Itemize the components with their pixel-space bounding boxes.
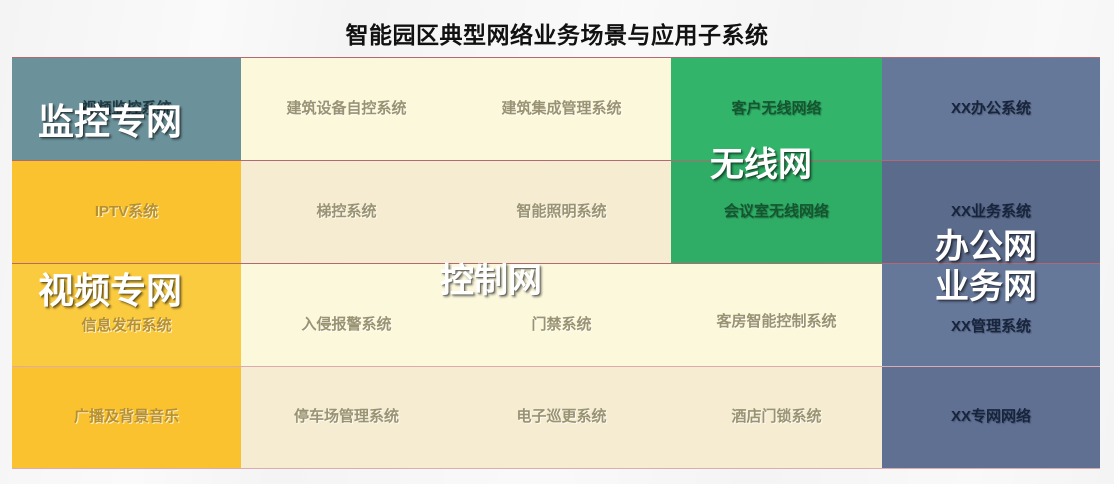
zone-label-office-network: 办公网 [935, 230, 1037, 266]
cell-guestroom-intelligent-control-system[interactable]: 客房智能控制系统 [671, 264, 882, 366]
cell-label: 建筑集成管理系统 [501, 100, 621, 119]
cell-label: 电子巡更系统 [516, 408, 606, 427]
cell-xx-private-network[interactable]: XX专网网络 [882, 367, 1100, 468]
cell-label: 梯控系统 [316, 203, 376, 222]
cell-iptv-system[interactable]: IPTV系统 [12, 161, 241, 263]
cell-guest-wireless-network[interactable]: 客户无线网络 [671, 58, 882, 160]
cell-label: XX管理系统 [951, 318, 1031, 337]
zone-label-wireless-network: 无线网 [710, 148, 812, 184]
cell-label: 信息发布系统 [81, 317, 171, 336]
cell-label: 客户无线网络 [731, 100, 821, 119]
zone-label-control-network: 控制网 [440, 264, 542, 300]
cell-label: 门禁系统 [531, 316, 591, 335]
cell-intrusion-alarm-system[interactable]: 入侵报警系统 [241, 264, 452, 366]
cell-label: XX业务系统 [951, 203, 1031, 222]
cell-label: 广播及背景音乐 [74, 408, 179, 427]
cell-xx-office-system[interactable]: XX办公系统 [882, 58, 1100, 160]
matrix-bottom-rule [12, 468, 1100, 469]
page-title: 智能园区典型网络业务场景与应用子系统 [0, 16, 1114, 50]
cell-label: 停车场管理系统 [294, 408, 399, 427]
cell-label: XX专网网络 [951, 408, 1031, 427]
cell-label: IPTV系统 [95, 203, 158, 222]
cell-label: 客房智能控制系统 [716, 313, 836, 332]
cell-intelligent-lighting-system[interactable]: 智能照明系统 [452, 161, 671, 263]
zone-label-video-private-network: 视频专网 [38, 272, 182, 310]
cell-label: 智能照明系统 [516, 203, 606, 222]
cell-building-integrated-management[interactable]: 建筑集成管理系统 [452, 58, 671, 160]
zone-label-monitor-private-network: 监控专网 [38, 103, 182, 141]
cell-label: 建筑设备自控系统 [286, 100, 406, 119]
matrix-top-rule [12, 57, 1100, 58]
cell-label: 会议室无线网络 [724, 203, 829, 222]
cell-electronic-patrol-system[interactable]: 电子巡更系统 [452, 367, 671, 468]
cell-elevator-control-system[interactable]: 梯控系统 [241, 161, 452, 263]
cell-building-equipment-automation[interactable]: 建筑设备自控系统 [241, 58, 452, 160]
cell-label: 入侵报警系统 [301, 316, 391, 335]
cell-label: 酒店门锁系统 [731, 408, 821, 427]
zone-label-business-network: 业务网 [935, 270, 1037, 306]
row-rule-1 [12, 160, 1100, 161]
cell-parking-management-system[interactable]: 停车场管理系统 [241, 367, 452, 468]
row-rule-3 [12, 366, 1100, 367]
cell-hotel-door-lock-system[interactable]: 酒店门锁系统 [671, 367, 882, 468]
cell-label: XX办公系统 [951, 100, 1031, 119]
cell-broadcast-background-music[interactable]: 广播及背景音乐 [12, 367, 241, 468]
